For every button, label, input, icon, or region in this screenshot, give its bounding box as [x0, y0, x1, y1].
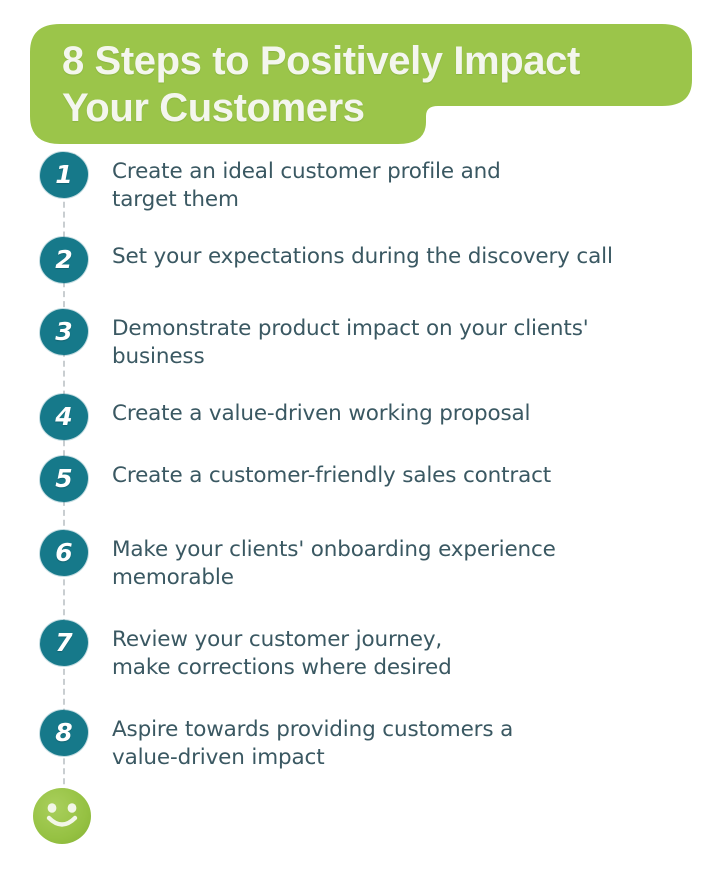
step-number-badge-8: 8: [40, 710, 88, 756]
infographic-root: 8 Steps to Positively Impact Your Custom…: [0, 0, 720, 878]
step-number-badge-1: 1: [40, 152, 88, 198]
step-description: Create an ideal customer profile and tar…: [112, 152, 525, 214]
step-number-label: 8: [55, 720, 72, 745]
step-number-badge-5: 5: [40, 456, 88, 502]
smiley-face-icon: [33, 788, 91, 844]
list-item[interactable]: 3 Demonstrate product impact on your cli…: [0, 309, 720, 394]
footer-marker: [0, 788, 112, 844]
smiley-glyph-icon: [41, 800, 83, 832]
step-number-label: 2: [55, 247, 72, 272]
footer-row: [0, 788, 720, 844]
step-description: Make your clients' onboarding experience…: [112, 530, 580, 592]
step-number-badge-6: 6: [40, 530, 88, 576]
step-number-badge-3: 3: [40, 309, 88, 355]
step-description: Set your expectations during the discove…: [112, 237, 637, 271]
title-banner: 8 Steps to Positively Impact Your Custom…: [26, 18, 694, 146]
step-description: Create a value-driven working proposal: [112, 394, 554, 428]
step-marker: 3: [0, 309, 112, 355]
list-item[interactable]: 5 Create a customer-friendly sales contr…: [0, 456, 720, 530]
step-description: Demonstrate product impact on your clien…: [112, 309, 613, 371]
steps-list: 1 Create an ideal customer profile and t…: [0, 152, 720, 844]
page-title: 8 Steps to Positively Impact Your Custom…: [62, 38, 682, 132]
list-item[interactable]: 1 Create an ideal customer profile and t…: [0, 152, 720, 237]
list-item[interactable]: 8 Aspire towards providing customers a v…: [0, 710, 720, 788]
step-number-label: 6: [55, 540, 72, 565]
list-item[interactable]: 2 Set your expectations during the disco…: [0, 237, 720, 309]
step-number-badge-2: 2: [40, 237, 88, 283]
list-item[interactable]: 4 Create a value-driven working proposal: [0, 394, 720, 456]
list-item[interactable]: 7 Review your customer journey, make cor…: [0, 620, 720, 710]
step-description: Create a customer-friendly sales contrac…: [112, 456, 575, 490]
step-number-label: 4: [55, 404, 72, 429]
step-description: Review your customer journey, make corre…: [112, 620, 476, 682]
step-marker: 6: [0, 530, 112, 576]
step-number-label: 1: [55, 162, 72, 187]
list-item[interactable]: 6 Make your clients' onboarding experien…: [0, 530, 720, 620]
step-number-label: 3: [55, 319, 72, 344]
step-number-badge-4: 4: [40, 394, 88, 440]
step-number-badge-7: 7: [40, 620, 88, 666]
step-number-label: 5: [55, 466, 72, 491]
step-marker: 2: [0, 237, 112, 283]
step-marker: 5: [0, 456, 112, 502]
step-marker: 7: [0, 620, 112, 666]
step-marker: 4: [0, 394, 112, 440]
step-number-label: 7: [55, 630, 72, 655]
step-marker: 8: [0, 710, 112, 756]
step-marker: 1: [0, 152, 112, 198]
step-description: Aspire towards providing customers a val…: [112, 710, 537, 772]
